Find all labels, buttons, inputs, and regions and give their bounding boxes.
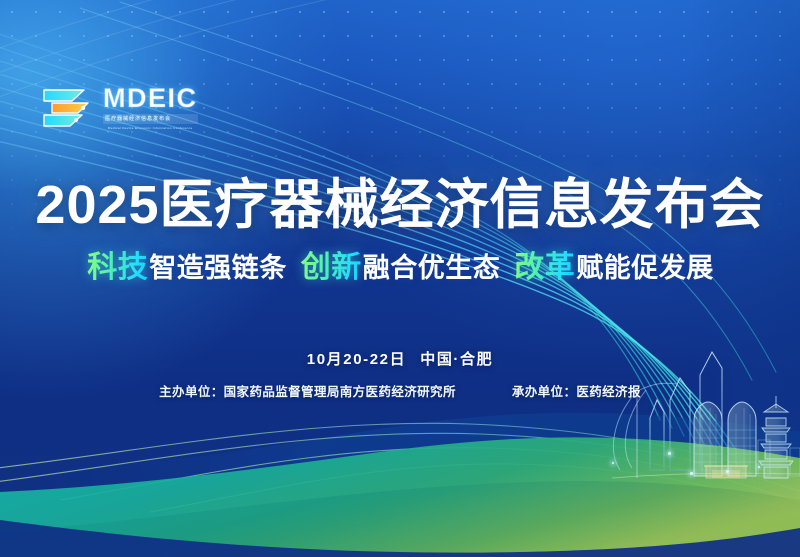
event-date: 10月20-22日 [307, 351, 406, 368]
logo-text-block: MDEIC 医疗器械经济信息发布会 Medical Device Economi… [103, 85, 198, 130]
subtitle-plain-2: 融合优生态 [363, 253, 501, 283]
subtitle-plain-1: 智造强链条 [149, 253, 287, 283]
conference-poster: MDEIC 医疗器械经济信息发布会 Medical Device Economi… [0, 0, 800, 557]
mdeic-logo[interactable]: MDEIC 医疗器械经济信息发布会 Medical Device Economi… [38, 80, 198, 136]
sparkle [758, 466, 760, 468]
subtitle-keyword-1: 科技 [86, 251, 149, 284]
organizers-row: 主办单位：国家药品监督管理局南方医药经济研究所 承办单位：医药经济报 [0, 381, 800, 400]
subtitle-keyword-2: 创新 [300, 251, 363, 284]
subtitle-plain-3: 赋能促发展 [576, 253, 714, 283]
logo-english-name: Medical Device Economic Information Conf… [103, 127, 198, 131]
logo-wordmark: MDEIC [103, 85, 198, 112]
event-location: 中国·合肥 [420, 351, 493, 368]
subtitle-keyword-3: 改革 [513, 251, 576, 284]
page-title: 2025医疗器械经济信息发布会 [0, 176, 800, 234]
organizing-unit: 承办单位：医药经济报 [512, 381, 641, 400]
sparkle [612, 462, 614, 464]
host-organization: 主办单位：国家药品监督管理局南方医药经济研究所 [159, 381, 456, 400]
sparkle [690, 472, 693, 475]
date-location-line: 10月20-22日中国·合肥 [0, 348, 800, 369]
mdeic-stacked-bars-logo-icon [38, 80, 94, 136]
sparkle [668, 452, 671, 455]
pagoda-icon [759, 396, 793, 478]
sparkle [726, 470, 729, 473]
logo-chinese-name: 医疗器械经济信息发布会 [103, 114, 198, 123]
hefei-city-skyline-lineart [612, 352, 800, 478]
subtitle-slogan: 科技智造强链条创新融合优生态改革赋能促发展 [0, 250, 800, 286]
